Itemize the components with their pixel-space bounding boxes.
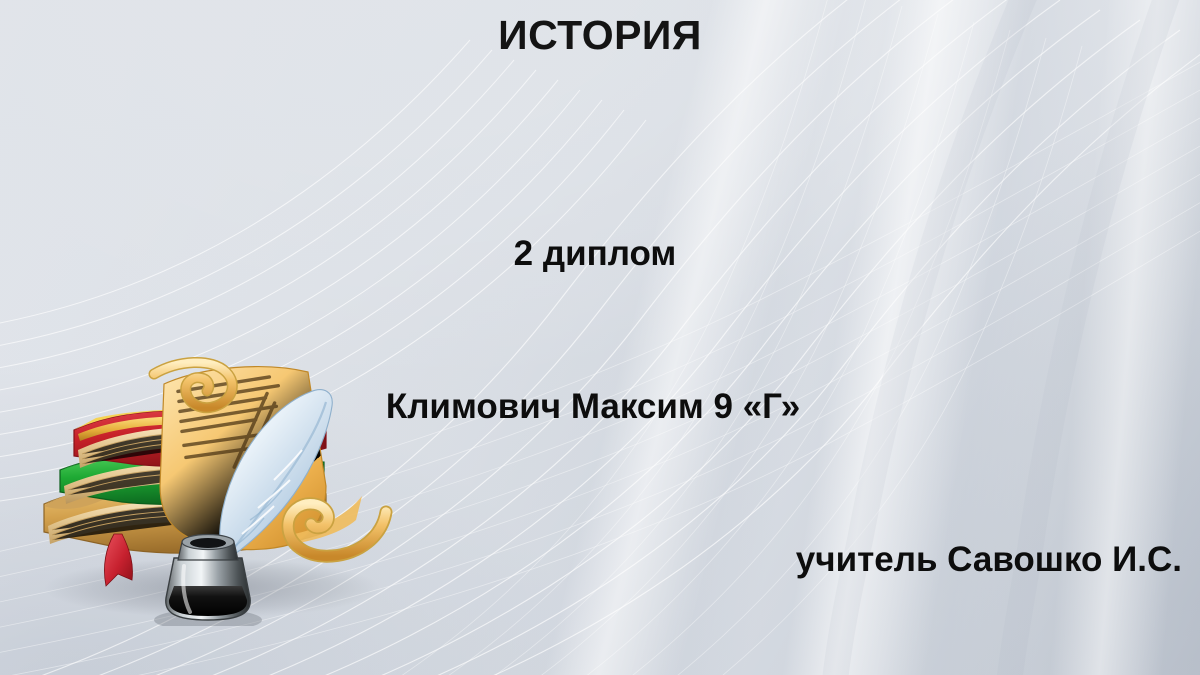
books-scroll-quill-inkwell-illustration: M Slyth [26,336,400,626]
page-title: ИСТОРИЯ [0,12,1200,59]
presentation-slide: ИСТОРИЯ 2 диплом Климович Максим 9 «Г» у… [0,0,1200,675]
text-line-award: 2 диплом [8,228,1182,279]
